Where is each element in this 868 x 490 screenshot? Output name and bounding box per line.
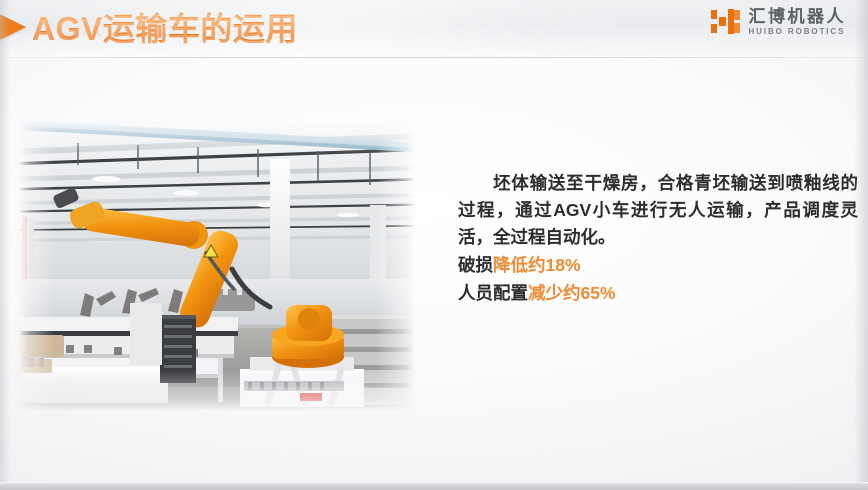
brand-logo: 汇博机器人 HUIBO ROBOTICS [711, 8, 847, 36]
page-title: AGV运输车的运用 [32, 9, 298, 49]
body-paragraph: 坯体输送至干燥房，合格青坯输送到喷釉线的过程，通过AGV小车进行无人运输，产品调… [458, 170, 858, 251]
stat-value-breakage: 降低约18% [493, 255, 581, 275]
left-edge-shading [0, 0, 10, 490]
agv-factory-photo-graphic [18, 119, 416, 411]
stat-label-breakage: 破损 [458, 255, 493, 275]
brand-name-en: HUIBO ROBOTICS [749, 28, 847, 36]
brand-name-cn: 汇博机器人 [749, 8, 847, 25]
brand-text: 汇博机器人 HUIBO ROBOTICS [749, 8, 847, 36]
stat-line-staffing: 人员配置减少约65% [458, 280, 858, 307]
bottom-shelf [0, 482, 868, 490]
stat-value-staffing: 减少约65% [528, 283, 616, 303]
stat-label-staffing: 人员配置 [458, 283, 528, 303]
header-divider [0, 57, 868, 58]
huibo-hb-logo-icon [711, 8, 741, 36]
slide-canvas: AGV运输车的运用 AGV运输车的运用 汇博机器人 HUIBO ROBOTICS [0, 0, 868, 490]
triangle-right-icon [0, 13, 26, 41]
stat-line-breakage: 破损降低约18% [458, 252, 858, 279]
agv-factory-photo [18, 119, 416, 411]
body-copy: 坯体输送至干燥房，合格青坯输送到喷釉线的过程，通过AGV小车进行无人运输，产品调… [458, 170, 858, 307]
